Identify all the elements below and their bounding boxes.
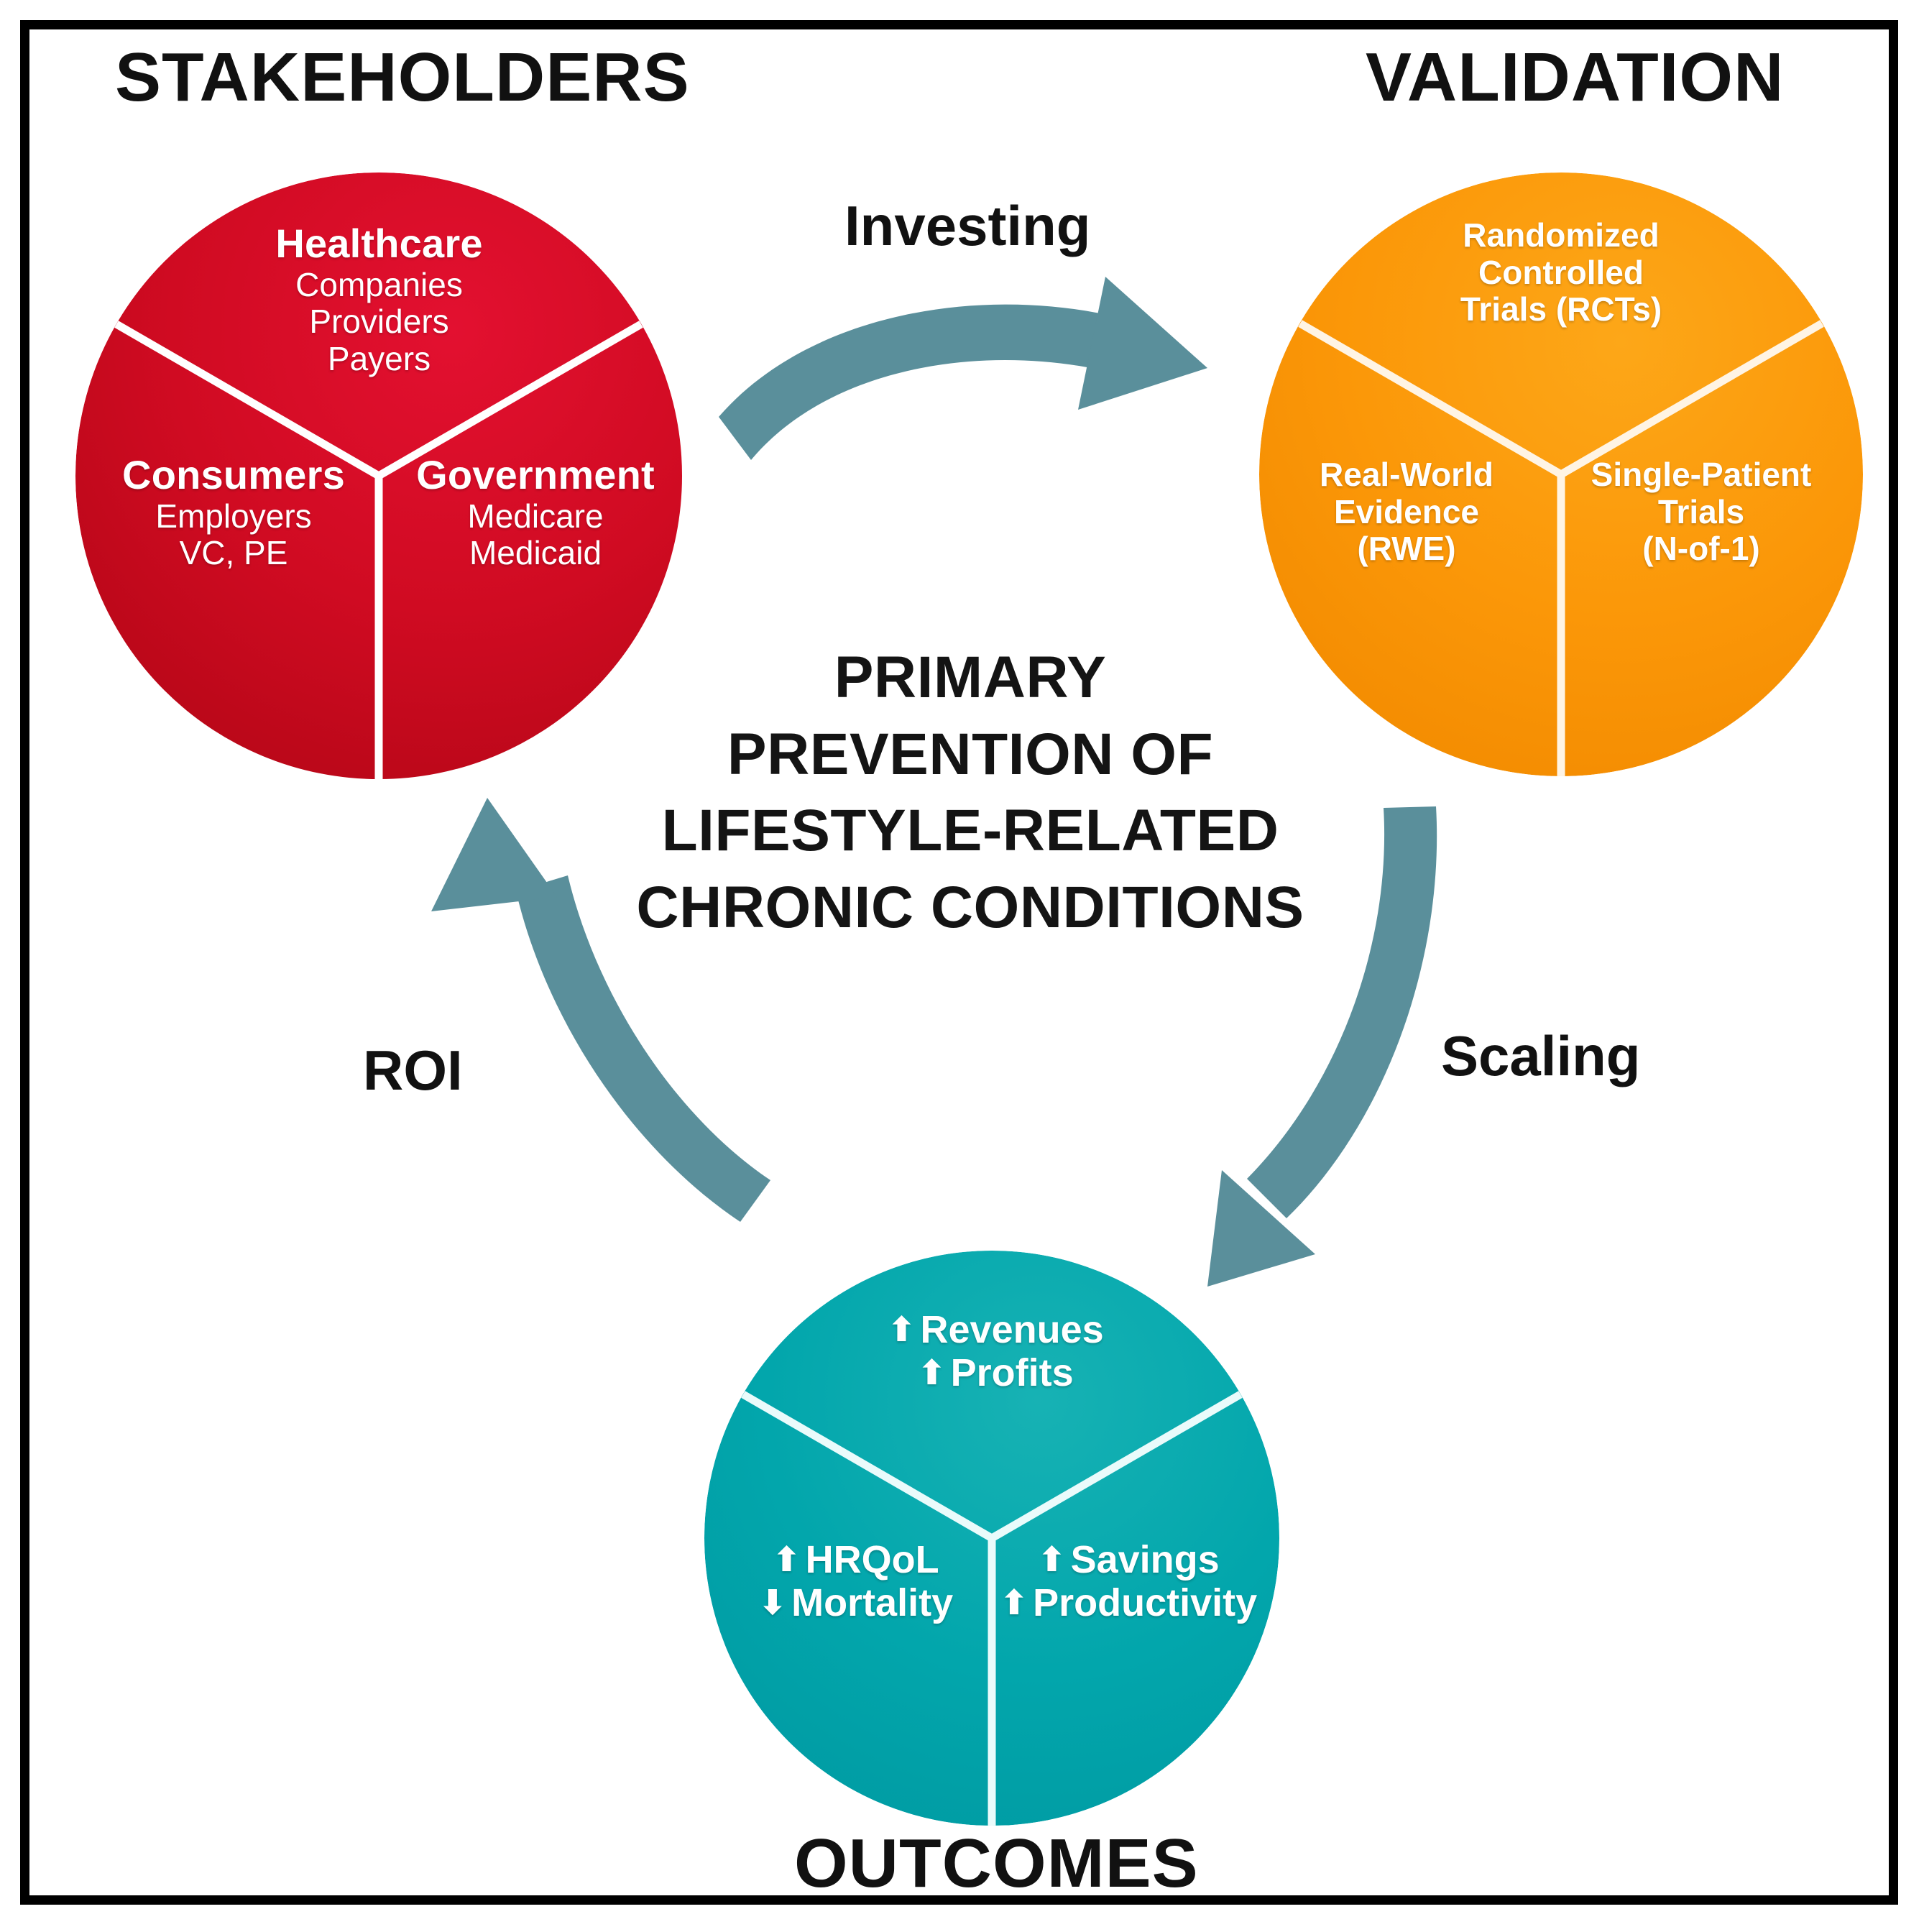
node-outcomes[interactable]: ⬆Revenues ⬆Profits ⬆HRQoL ⬇Mortality ⬆Sa… — [704, 1251, 1279, 1826]
center-title-line: CHRONIC CONDITIONS — [611, 870, 1330, 947]
stakeholders-pie — [75, 172, 683, 780]
connector-label-roi: ROI — [363, 1042, 463, 1098]
heading-stakeholders: STAKEHOLDERS — [115, 43, 690, 112]
validation-pie — [1259, 172, 1863, 776]
center-title-line: LIFESTYLE-RELATED — [611, 793, 1330, 870]
node-validation[interactable]: Randomized Controlled Trials (RCTs) Real… — [1259, 172, 1863, 776]
center-title-block: PRIMARY PREVENTION OF LIFESTYLE-RELATED … — [611, 640, 1330, 946]
center-title-line: PREVENTION OF — [611, 717, 1330, 793]
connector-label-scaling: Scaling — [1441, 1028, 1640, 1084]
center-title-line: PRIMARY — [611, 640, 1330, 717]
heading-outcomes: OUTCOMES — [794, 1829, 1199, 1898]
heading-validation: VALIDATION — [1366, 43, 1784, 112]
node-stakeholders[interactable]: Healthcare Companies Providers Payers Co… — [75, 172, 683, 780]
connector-label-investing: Investing — [844, 198, 1090, 254]
outcomes-pie — [704, 1251, 1279, 1826]
diagram-canvas: STAKEHOLDERS VALIDATION OUTCOMES Healthc… — [0, 0, 1924, 1932]
